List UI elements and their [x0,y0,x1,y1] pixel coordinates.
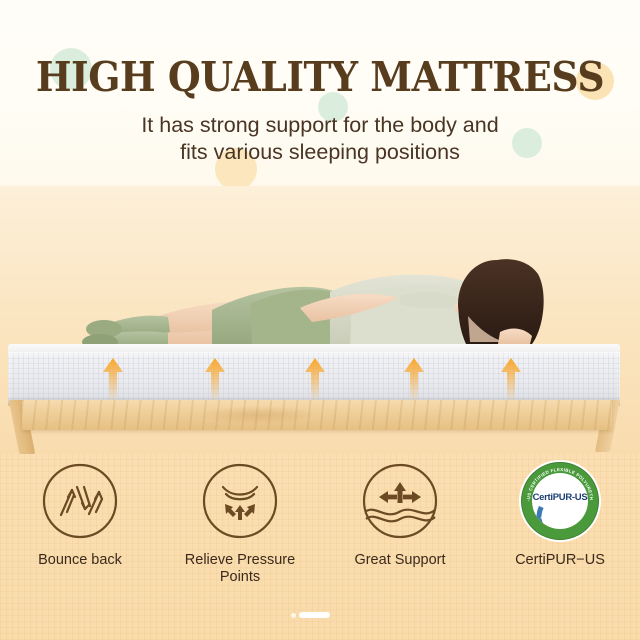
support-arrow-2 [204,358,226,402]
badge-arc-text: CERTIPUR-US CERTIFIED FLEXIBLE POLYURETH… [521,462,599,540]
great-support-icon [361,462,439,540]
feature-label: Relieve PressurePoints [185,552,295,586]
bed-frame-rail [22,400,612,430]
feature-great-support[interactable]: Great Support [325,462,475,569]
support-arrow-4 [403,358,425,402]
product-detail-page: HIGH QUALITY MATTRESS It has strong supp… [0,0,640,640]
subtitle-line-1: It has strong support for the body and [0,112,640,139]
scrollbar-thumb[interactable] [299,612,330,618]
page-subtitle: It has strong support for the body and f… [0,112,640,166]
feature-label: Great Support [354,552,445,569]
svg-text:WWW.CERTIPUR.US: WWW.CERTIPUR.US [539,515,581,528]
support-arrow-3 [304,358,326,402]
feature-label: CertiPUR−US [515,552,605,569]
scrollbar-dot [291,613,296,618]
carousel-scrollbar[interactable] [291,612,330,618]
subtitle-line-2: fits various sleeping positions [0,139,640,166]
feature-list: Bounce back [0,462,640,586]
header-banner: HIGH QUALITY MATTRESS It has strong supp… [0,0,640,186]
product-scene [0,186,640,454]
certipur-us-badge: CERTIPUR-US CERTIFIED FLEXIBLE POLYURETH… [521,462,599,540]
feature-certipur-us[interactable]: CERTIPUR-US CERTIFIED FLEXIBLE POLYURETH… [485,462,635,569]
svg-text:CERTIPUR-US CERTIFIED FLEXIBLE: CERTIPUR-US CERTIFIED FLEXIBLE POLYURETH… [521,462,594,501]
relieve-pressure-icon [201,462,279,540]
badge-arc-label: CERTIPUR-US CERTIFIED FLEXIBLE POLYURETH… [521,462,594,501]
feature-bounce-back[interactable]: Bounce back [5,462,155,569]
badge-url-label: WWW.CERTIPUR.US [539,515,581,528]
page-title: HIGH QUALITY MATTRESS [26,53,615,101]
support-arrow-5 [500,358,522,402]
support-arrow-1 [102,358,124,402]
feature-label: Bounce back [38,552,122,569]
bounce-back-icon [41,462,119,540]
feature-relieve-pressure[interactable]: Relieve PressurePoints [165,462,315,586]
